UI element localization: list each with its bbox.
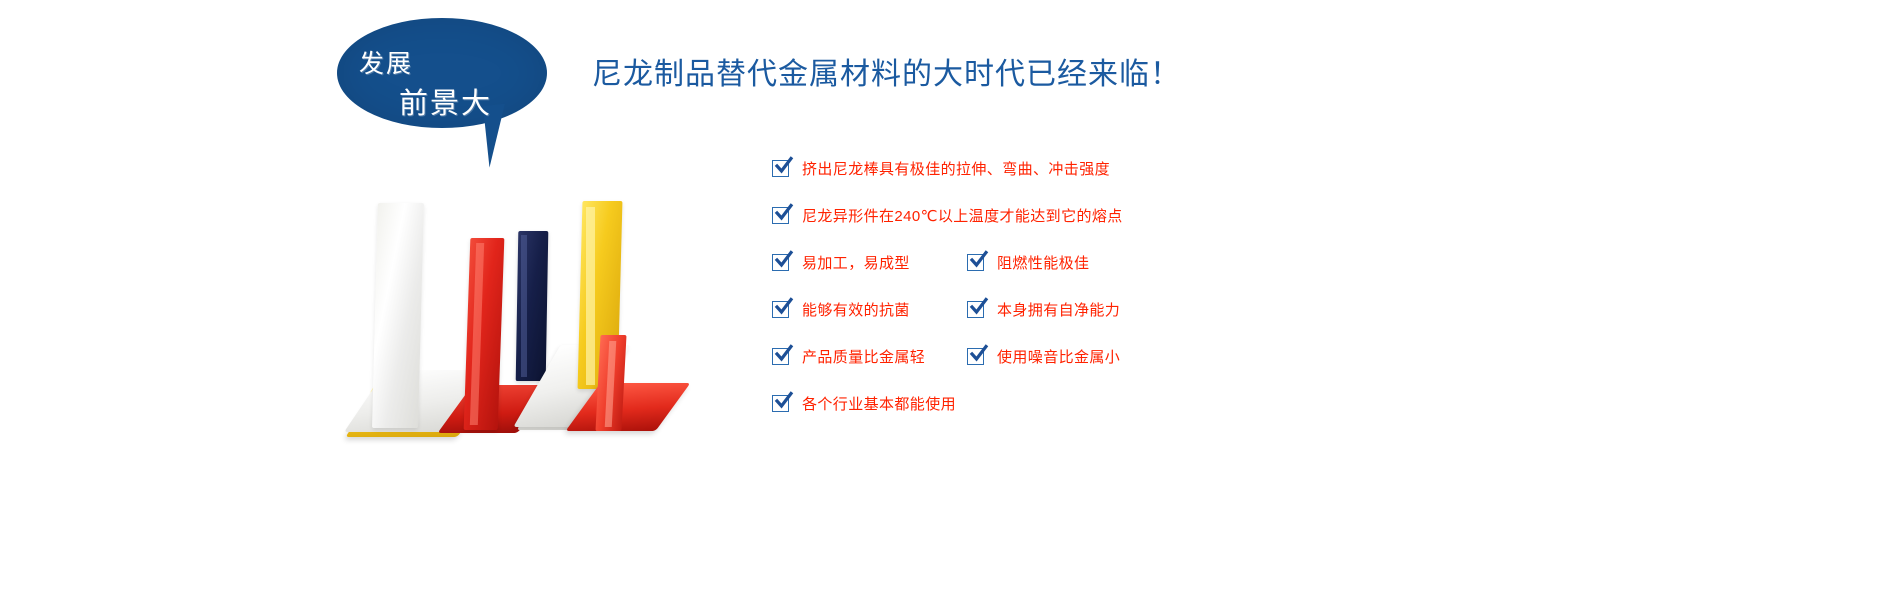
checkbox-checked-icon bbox=[967, 348, 984, 365]
feature-item: 使用噪音比金属小 bbox=[967, 346, 1120, 367]
feature-label: 尼龙异形件在240℃以上温度才能达到它的熔点 bbox=[802, 205, 1123, 226]
speech-bubble-line-1: 发展 bbox=[359, 44, 413, 80]
checkbox-checked-icon bbox=[772, 207, 789, 224]
feature-item: 尼龙异形件在240℃以上温度才能达到它的熔点 bbox=[772, 205, 1123, 226]
feature-row: 产品质量比金属轻 使用噪音比金属小 bbox=[772, 346, 1472, 393]
feature-item: 各个行业基本都能使用 bbox=[772, 393, 956, 414]
feature-row: 尼龙异形件在240℃以上温度才能达到它的熔点 bbox=[772, 205, 1472, 252]
checkbox-checked-icon bbox=[772, 395, 789, 412]
checkbox-checked-icon bbox=[772, 301, 789, 318]
feature-label: 挤出尼龙棒具有极佳的拉伸、弯曲、冲击强度 bbox=[802, 158, 1110, 179]
checkbox-checked-icon bbox=[772, 348, 789, 365]
feature-label: 阻燃性能极佳 bbox=[997, 252, 1089, 273]
product-photo bbox=[355, 185, 715, 460]
feature-item: 能够有效的抗菌 bbox=[772, 299, 910, 320]
feature-item: 易加工，易成型 bbox=[772, 252, 910, 273]
feature-row: 能够有效的抗菌 本身拥有自净能力 bbox=[772, 299, 1472, 346]
feature-row: 挤出尼龙棒具有极佳的拉伸、弯曲、冲击强度 bbox=[772, 158, 1472, 205]
feature-label: 使用噪音比金属小 bbox=[997, 346, 1120, 367]
feature-label: 产品质量比金属轻 bbox=[802, 346, 925, 367]
promo-banner: 发展 前景大 尼龙制品替代金属材料的大时代已经来临！ 挤出尼龙棒具有极佳的拉伸、 bbox=[0, 0, 1902, 592]
checkbox-checked-icon bbox=[967, 301, 984, 318]
feature-item: 阻燃性能极佳 bbox=[967, 252, 1089, 273]
feature-item: 挤出尼龙棒具有极佳的拉伸、弯曲、冲击强度 bbox=[772, 158, 1110, 179]
feature-label: 易加工，易成型 bbox=[802, 252, 910, 273]
speech-bubble: 发展 前景大 bbox=[337, 18, 547, 168]
feature-item: 本身拥有自净能力 bbox=[967, 299, 1120, 320]
checkbox-checked-icon bbox=[967, 254, 984, 271]
feature-list: 挤出尼龙棒具有极佳的拉伸、弯曲、冲击强度 尼龙异形件在240℃以上温度才能达到它… bbox=[772, 158, 1472, 440]
checkbox-checked-icon bbox=[772, 160, 789, 177]
checkbox-checked-icon bbox=[772, 254, 789, 271]
feature-item: 产品质量比金属轻 bbox=[772, 346, 925, 367]
banner-headline: 尼龙制品替代金属材料的大时代已经来临！ bbox=[592, 49, 1181, 93]
yellow-profile-highlight bbox=[586, 207, 595, 385]
feature-label: 能够有效的抗菌 bbox=[802, 299, 910, 320]
navy-profile-highlight bbox=[521, 235, 527, 377]
feature-row: 易加工，易成型 阻燃性能极佳 bbox=[772, 252, 1472, 299]
speech-bubble-line-2: 前景大 bbox=[399, 80, 492, 122]
white-profile-tall bbox=[372, 203, 424, 428]
feature-label: 各个行业基本都能使用 bbox=[802, 393, 956, 414]
feature-row: 各个行业基本都能使用 bbox=[772, 393, 1472, 440]
feature-label: 本身拥有自净能力 bbox=[997, 299, 1120, 320]
